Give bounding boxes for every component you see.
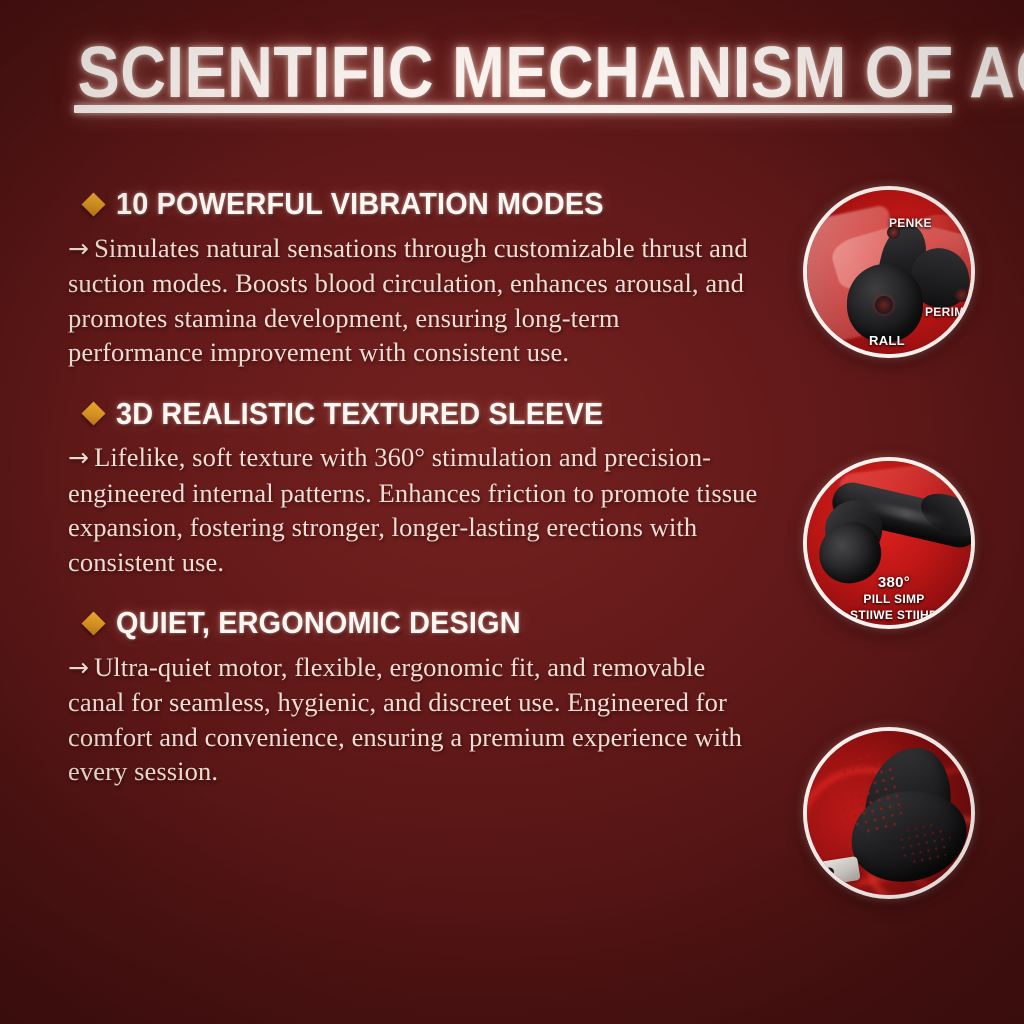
- thumbnail-image-1: PENKE RALL PERIMCU: [807, 190, 971, 354]
- thumbnail-callout-label: RALL: [869, 333, 905, 348]
- thumbnail-callout-label: PERIMCU: [925, 305, 971, 319]
- diamond-bullet-icon: [81, 192, 105, 216]
- feature-list: 10 POWERFUL VIBRATION MODES →Simulates n…: [68, 188, 768, 817]
- product-thumbnail-1: PENKE RALL PERIMCU: [803, 186, 975, 358]
- diamond-bullet-icon: [81, 611, 105, 635]
- feature-description: →Ultra-quiet motor, flexible, ergonomic …: [68, 650, 768, 789]
- feature-description-text: Ultra-quiet motor, flexible, ergonomic f…: [68, 652, 742, 787]
- feature-item: 3D REALISTIC TEXTURED SLEEVE →Lifelike, …: [68, 398, 768, 580]
- feature-heading-row: 10 POWERFUL VIBRATION MODES: [68, 188, 768, 221]
- arrow-right-icon: →: [68, 234, 89, 263]
- product-thumbnail-column: PENKE RALL PERIMCU 380° PILL SIMP STIIWE…: [803, 0, 983, 1024]
- feature-heading-row: QUIET, ERGONOMIC DESIGN: [68, 607, 768, 640]
- device-button-icon-2: [955, 288, 969, 302]
- thumbnail-callout-label: PENKE: [889, 216, 932, 230]
- feature-title: 3D REALISTIC TEXTURED SLEEVE: [116, 398, 603, 431]
- thumbnail-image-3: [807, 731, 971, 895]
- arrow-right-icon: →: [68, 653, 89, 682]
- feature-description-text: Simulates natural sensations through cus…: [68, 233, 748, 368]
- feature-description-text: Lifelike, soft texture with 360° stimula…: [68, 442, 757, 577]
- product-thumbnail-2: 380° PILL SIMP STIIWE STIIHD: [803, 457, 975, 629]
- thumbnail-caption-degrees: 380°: [859, 574, 929, 591]
- poster-canvas: SCIENTIFIC MECHANISM OF ACTION 10 POWERF…: [0, 0, 1024, 1024]
- diamond-bullet-icon: [81, 402, 105, 426]
- feature-item: QUIET, ERGONOMIC DESIGN →Ultra-quiet mot…: [68, 607, 768, 789]
- feature-item: 10 POWERFUL VIBRATION MODES →Simulates n…: [68, 188, 768, 370]
- feature-description: →Lifelike, soft texture with 360° stimul…: [68, 440, 758, 579]
- feature-heading-row: 3D REALISTIC TEXTURED SLEEVE: [68, 398, 768, 431]
- thumbnail-caption-line-3: STIIWE STIIHD: [839, 608, 949, 622]
- product-thumbnail-3: [803, 727, 975, 899]
- feature-title: QUIET, ERGONOMIC DESIGN: [116, 607, 521, 640]
- feature-title: 10 POWERFUL VIBRATION MODES: [116, 188, 604, 221]
- device-button-icon: [875, 296, 893, 314]
- feature-description: →Simulates natural sensations through cu…: [68, 231, 758, 370]
- arrow-right-icon: →: [68, 443, 89, 472]
- thumbnail-caption-line-2: PILL SIMP: [845, 592, 943, 606]
- thumbnail-image-2: 380° PILL SIMP STIIWE STIIHD: [807, 461, 971, 625]
